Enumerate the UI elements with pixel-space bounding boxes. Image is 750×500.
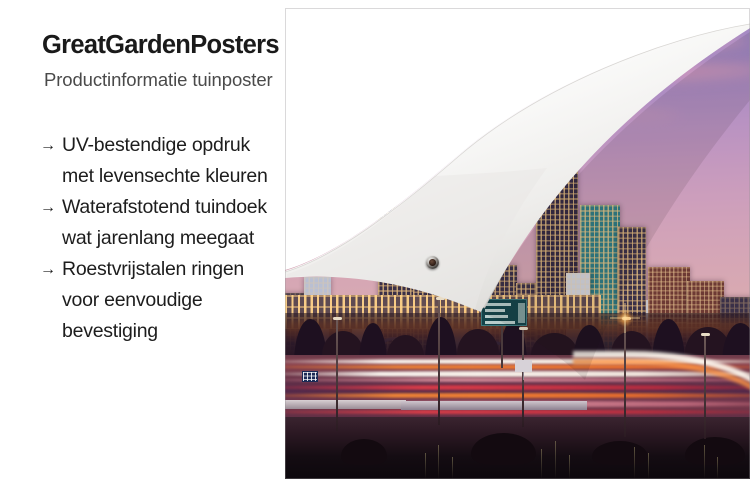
street-lamp-head [333,317,342,320]
downtown-skyline [285,8,750,479]
grass-blade [541,449,542,479]
concrete-barrier [401,401,587,410]
antenna [555,127,556,141]
feature-line: Waterafstotend tuindoek [62,192,305,223]
product-info-card: GreatGardenPosters Productinformatie tui… [0,0,750,500]
feature-item-uv-print: → UV-bestendige opdruk met levensechte k… [40,130,305,192]
feature-text: Waterafstotend tuindoek wat jarenlang me… [62,192,305,254]
lens-flare [616,309,634,327]
concrete-barrier [285,400,406,409]
bush [592,441,648,465]
grass-blade [704,445,705,479]
reflective-marker-panel [302,371,318,382]
grass-blade [648,453,649,479]
feature-line: met levensechte kleuren [62,161,305,192]
sign-text-line [485,309,505,312]
highway-guide-sign [481,299,527,326]
street-lamp-head [519,327,528,330]
feature-text: UV-bestendige opdruk met levensechte kle… [62,130,305,192]
sign-text-line [485,303,511,306]
feature-item-stainless-rings: → Roestvrijstalen ringen voor eenvoudige… [40,254,305,347]
feature-line: bevestiging [62,316,305,347]
denver-skyline-photo [285,8,750,479]
sign-text-line [485,321,515,324]
street-lamp-head [436,297,445,300]
feature-line: wat jarenlang meegaat [62,223,305,254]
feature-list: → UV-bestendige opdruk met levensechte k… [40,130,305,347]
grass-blade [569,455,570,479]
bush [685,437,745,465]
sign-text-line [485,315,508,318]
street-lamp-pole [624,319,626,437]
foreground-field [285,417,750,479]
garden-poster-image [285,8,750,479]
roadside-billboard [515,360,532,372]
street-lamp-pole [438,299,440,425]
grass-blade [425,453,426,479]
sign-shield [518,303,525,323]
grass-blade [452,457,453,479]
feature-line: UV-bestendige opdruk [62,130,305,161]
brand-title: GreatGardenPosters [42,31,279,60]
sign-post [501,326,503,368]
arrow-right-icon: → [40,130,56,161]
grass-blade [555,441,556,479]
arrow-right-icon: → [40,254,56,285]
feature-line: voor eenvoudige [62,285,305,316]
billboard-post [523,372,524,380]
product-info-panel: GreatGardenPosters Productinformatie tui… [0,0,300,500]
grass-blade [438,445,439,479]
street-lamp-pole [704,335,706,439]
feature-line: Roestvrijstalen ringen [62,254,305,285]
grass-blade [634,447,635,479]
street-lamp-head [701,333,710,336]
street-lamp-pole [336,319,338,431]
bush [471,433,536,465]
feature-text: Roestvrijstalen ringen voor eenvoudige b… [62,254,305,347]
bush [341,439,388,465]
feature-item-water-repellent: → Waterafstotend tuindoek wat jarenlang … [40,192,305,254]
page-subtitle: Productinformatie tuinposter [44,69,273,91]
stainless-steel-grommet [426,256,439,269]
grass-blade [717,457,718,479]
arrow-right-icon: → [40,192,56,223]
